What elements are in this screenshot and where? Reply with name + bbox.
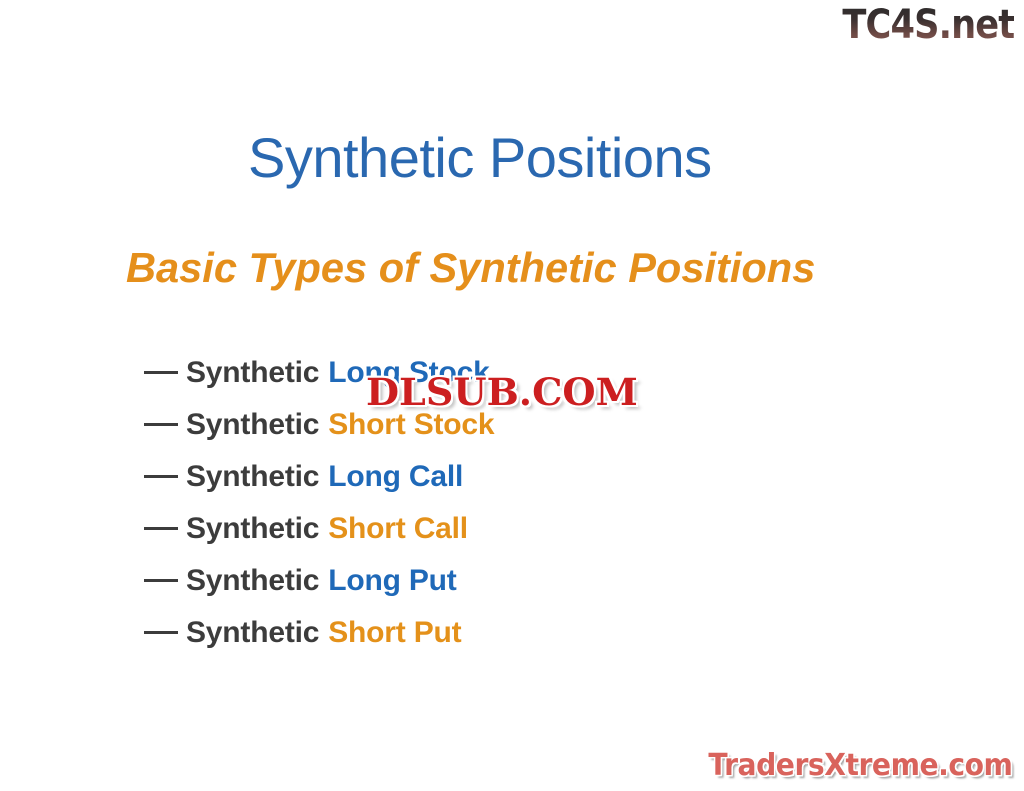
em-dash-bullet-icon: [144, 579, 178, 582]
bullet-label: Synthetic: [186, 616, 319, 650]
list-item: Synthetic Long Call: [144, 460, 764, 512]
bullet-value: Long Call: [328, 460, 463, 494]
em-dash-bullet-icon: [144, 371, 178, 374]
bullet-value: Short Put: [328, 616, 461, 650]
bullet-label: Synthetic: [186, 460, 319, 494]
list-item: Synthetic Short Stock: [144, 408, 764, 460]
em-dash-bullet-icon: [144, 423, 178, 426]
bullet-value: Short Call: [328, 512, 468, 546]
bullet-label: Synthetic: [186, 564, 319, 598]
bullet-label: Synthetic: [186, 356, 319, 390]
list-item: Synthetic Long Put: [144, 564, 764, 616]
tc4s-site-logo: TC4S.net: [842, 2, 1014, 48]
bullet-label: Synthetic: [186, 408, 319, 442]
presentation-slide: TC4S.net Synthetic Positions Basic Types…: [0, 0, 1024, 791]
em-dash-bullet-icon: [144, 475, 178, 478]
em-dash-bullet-icon: [144, 631, 178, 634]
bullet-label: Synthetic: [186, 512, 319, 546]
dlsub-watermark: DLSUB.COM: [366, 370, 638, 414]
bullet-value: Long Put: [328, 564, 456, 598]
list-item: Synthetic Short Call: [144, 512, 764, 564]
em-dash-bullet-icon: [144, 527, 178, 530]
slide-subtitle: Basic Types of Synthetic Positions: [126, 244, 815, 292]
page-title: Synthetic Positions: [248, 125, 712, 190]
tradersxtreme-watermark: TradersXtreme.com: [708, 748, 1012, 783]
list-item: Synthetic Short Put: [144, 616, 764, 668]
